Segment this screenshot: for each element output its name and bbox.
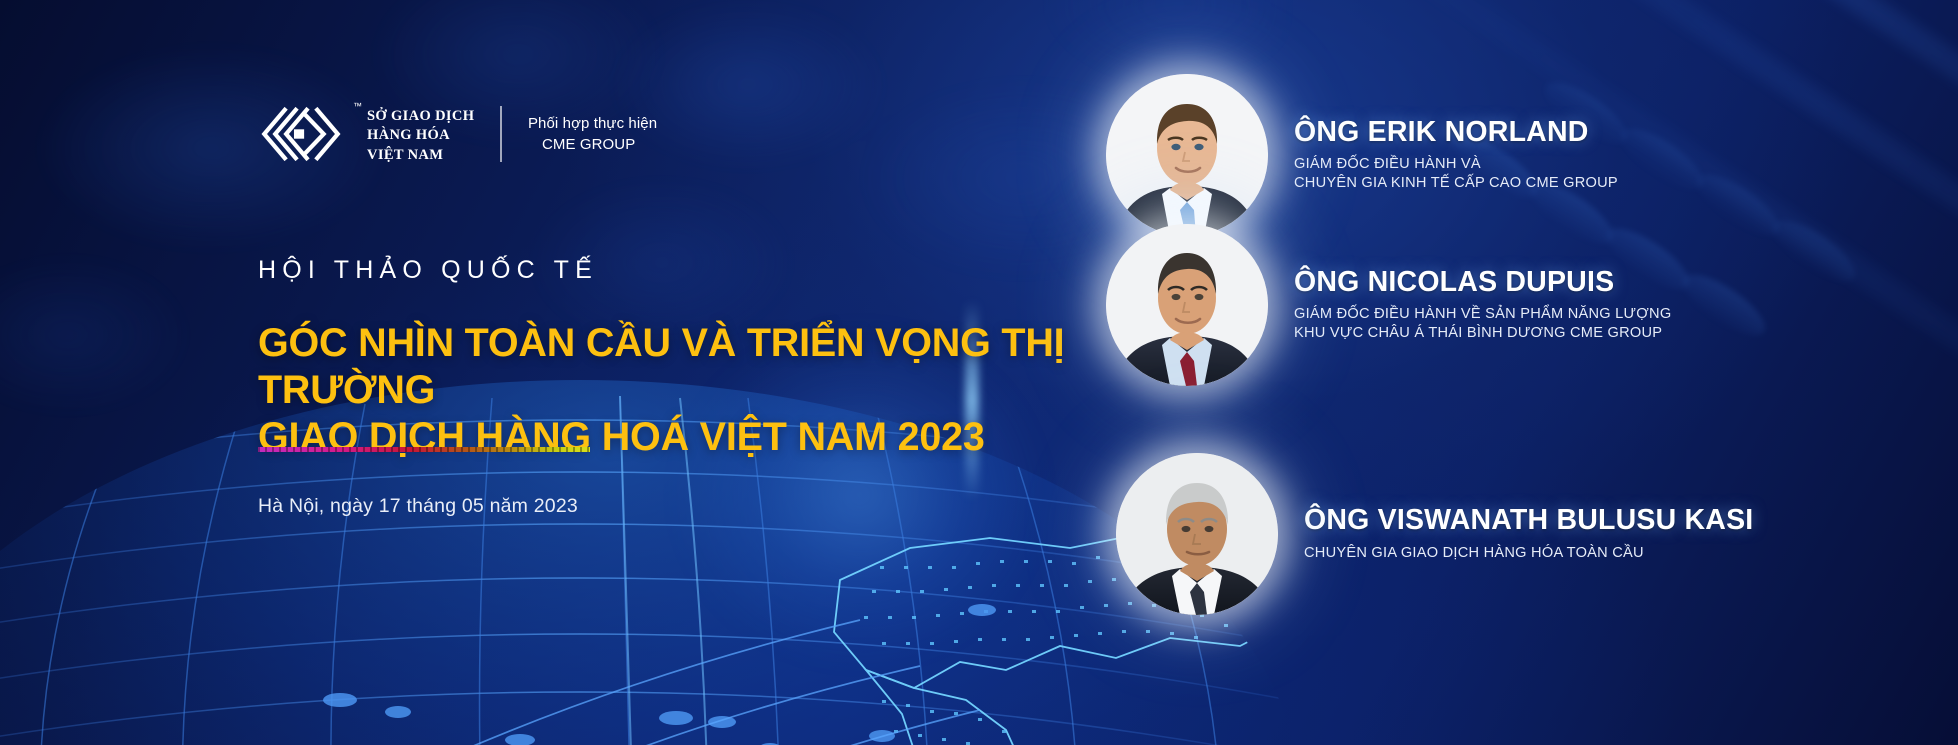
speaker-3-role-line-1: CHUYÊN GIA GIAO DỊCH HÀNG HÓA TOÀN CẦU bbox=[1304, 544, 1753, 563]
speaker-3-role: CHUYÊN GIA GIAO DỊCH HÀNG HÓA TOÀN CẦU bbox=[1304, 544, 1753, 563]
org-line-1: SỞ GIAO DỊCH bbox=[353, 107, 474, 126]
partner-credit: Phối hợp thực hiện CME GROUP bbox=[528, 113, 657, 156]
event-eyebrow: HỘI THẢO QUỐC TẾ bbox=[258, 256, 598, 285]
partner-line-1: Phối hợp thực hiện bbox=[528, 113, 657, 134]
event-content: ™ SỞ GIAO DỊCH HÀNG HÓA VIỆT NAM Phối hợ… bbox=[0, 0, 1100, 745]
speaker-2-role-line-1: GIÁM ĐỐC ĐIỀU HÀNH VỀ SẢN PHẨM NĂNG LƯỢN… bbox=[1294, 305, 1671, 324]
gradient-divider bbox=[258, 447, 590, 452]
speaker-3-text: ÔNG VISWANATH BULUSU KASI CHUYÊN GIA GIA… bbox=[1304, 505, 1753, 563]
trademark-symbol: ™ bbox=[353, 101, 362, 111]
speaker-3-portrait bbox=[1116, 453, 1278, 615]
speaker-2-portrait bbox=[1106, 224, 1268, 386]
logo-row: ™ SỞ GIAO DỊCH HÀNG HÓA VIỆT NAM Phối hợ… bbox=[258, 103, 657, 165]
mxv-wordmark: ™ SỞ GIAO DỊCH HÀNG HÓA VIỆT NAM bbox=[353, 103, 474, 165]
speaker-3-name: ÔNG VISWANATH BULUSU KASI bbox=[1304, 505, 1753, 536]
org-line-2: HÀNG HÓA bbox=[353, 126, 474, 145]
logo-divider bbox=[500, 106, 502, 162]
mxv-logo: ™ SỞ GIAO DỊCH HÀNG HÓA VIỆT NAM bbox=[258, 103, 474, 165]
speaker-2-text: ÔNG NICOLAS DUPUIS GIÁM ĐỐC ĐIỀU HÀNH VỀ… bbox=[1294, 267, 1671, 344]
speaker-2-role-line-2: KHU VỰC CHÂU Á THÁI BÌNH DƯƠNG CME GROUP bbox=[1294, 324, 1671, 343]
event-title-line-2: GIAO DỊCH HÀNG HOÁ VIỆT NAM 2023 bbox=[258, 414, 1078, 461]
mxv-chevron-logo-icon bbox=[258, 103, 344, 165]
speaker-card-3: ÔNG VISWANATH BULUSU KASI CHUYÊN GIA GIA… bbox=[1116, 453, 1753, 615]
speaker-2-name: ÔNG NICOLAS DUPUIS bbox=[1294, 267, 1671, 298]
org-line-3: VIỆT NAM bbox=[353, 146, 474, 165]
speaker-2-role: GIÁM ĐỐC ĐIỀU HÀNH VỀ SẢN PHẨM NĂNG LƯỢN… bbox=[1294, 305, 1671, 344]
partner-line-2: CME GROUP bbox=[528, 134, 657, 155]
speaker-1-role-line-2: CHUYÊN GIA KINH TẾ CẤP CAO CME GROUP bbox=[1294, 174, 1618, 193]
speaker-card-1: ÔNG ERIK NORLAND GIÁM ĐỐC ĐIỀU HÀNH VÀ C… bbox=[1106, 74, 1618, 236]
event-title: GÓC NHÌN TOÀN CẦU VÀ TRIỂN VỌNG THỊ TRƯỜ… bbox=[258, 320, 1078, 461]
speaker-1-text: ÔNG ERIK NORLAND GIÁM ĐỐC ĐIỀU HÀNH VÀ C… bbox=[1294, 117, 1618, 194]
speaker-1-portrait bbox=[1106, 74, 1268, 236]
speaker-1-name: ÔNG ERIK NORLAND bbox=[1294, 117, 1618, 148]
speaker-card-2: ÔNG NICOLAS DUPUIS GIÁM ĐỐC ĐIỀU HÀNH VỀ… bbox=[1106, 224, 1671, 386]
speaker-1-role-line-1: GIÁM ĐỐC ĐIỀU HÀNH VÀ bbox=[1294, 155, 1618, 174]
event-banner: ™ SỞ GIAO DỊCH HÀNG HÓA VIỆT NAM Phối hợ… bbox=[0, 0, 1958, 745]
event-title-line-1: GÓC NHÌN TOÀN CẦU VÀ TRIỂN VỌNG THỊ TRƯỜ… bbox=[258, 321, 1064, 412]
speaker-1-role: GIÁM ĐỐC ĐIỀU HÀNH VÀ CHUYÊN GIA KINH TẾ… bbox=[1294, 155, 1618, 194]
event-date: Hà Nội, ngày 17 tháng 05 năm 2023 bbox=[258, 495, 578, 518]
